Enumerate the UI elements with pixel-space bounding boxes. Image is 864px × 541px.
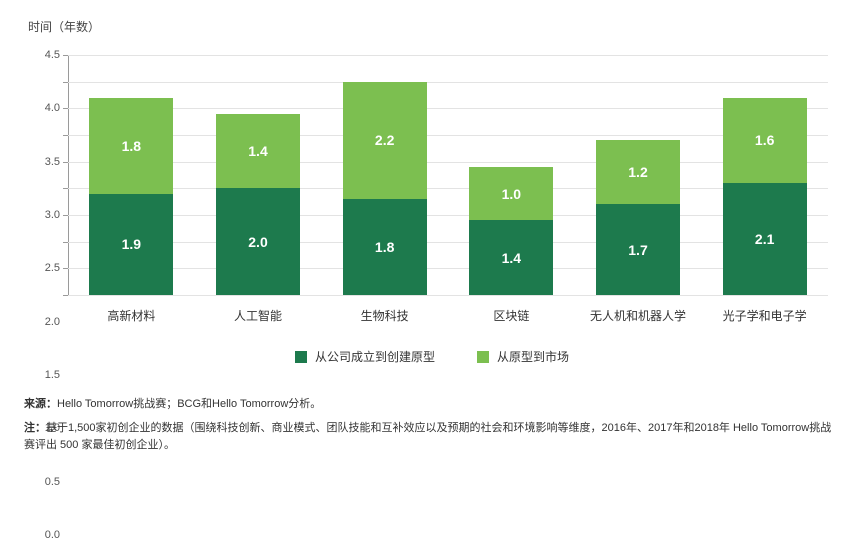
y-tick-label: 2.0 <box>45 316 60 328</box>
source-text: Hello Tomorrow挑战赛；BCG和Hello Tomorrow分析。 <box>57 398 321 410</box>
gridline: 1.0 <box>68 242 828 243</box>
bar-stack: 2.11.6 <box>723 98 807 295</box>
footnotes: 来源：Hello Tomorrow挑战赛；BCG和Hello Tomorrow分… <box>24 396 840 461</box>
x-category-label: 无人机和机器人学 <box>575 307 702 324</box>
gridline: 3.0 <box>68 135 828 136</box>
y-tick-mark <box>63 188 68 189</box>
chart-legend: 从公司成立到创建原型 从原型到市场 <box>0 348 864 365</box>
x-category-label: 区块链 <box>448 307 575 324</box>
plot-area: 0.00.51.01.52.02.53.03.54.04.51.91.8高新材料… <box>68 55 828 295</box>
bar-segment-prototype: 1.4 <box>469 220 553 295</box>
source-row: 来源：Hello Tomorrow挑战赛；BCG和Hello Tomorrow分… <box>24 396 840 414</box>
bar-value-label: 1.0 <box>502 186 521 202</box>
gridline: 4.5 <box>68 55 828 56</box>
y-tick-label: 2.5 <box>45 262 60 274</box>
bar-stack: 1.82.2 <box>343 82 427 295</box>
y-tick-mark <box>63 242 68 243</box>
y-tick-mark <box>63 295 68 296</box>
bar-stack: 1.91.8 <box>89 98 173 295</box>
bar-value-label: 2.1 <box>755 231 774 247</box>
gridline: 3.5 <box>68 108 828 109</box>
y-tick-label: 0.5 <box>45 476 60 488</box>
gridline: 0.0 <box>68 295 828 296</box>
y-tick-mark <box>63 82 68 83</box>
bar-segment-market: 2.2 <box>343 82 427 199</box>
y-tick-mark <box>63 268 68 269</box>
bar-segment-prototype: 2.1 <box>723 183 807 295</box>
bar-value-label: 1.4 <box>248 143 267 159</box>
x-category-label: 人工智能 <box>195 307 322 324</box>
legend-label-1: 从原型到市场 <box>497 348 569 365</box>
bar-value-label: 1.9 <box>122 236 141 252</box>
note-text: 基于1,500家初创企业的数据（围绕科技创新、商业模式、团队技能和互补效应以及预… <box>24 422 831 452</box>
legend-swatch-light-green <box>477 351 489 363</box>
gridline: 1.5 <box>68 215 828 216</box>
gridline: 0.5 <box>68 268 828 269</box>
bar-segment-prototype: 1.9 <box>89 194 173 295</box>
bar-stack: 2.01.4 <box>216 114 300 295</box>
y-tick-mark <box>63 108 68 109</box>
legend-swatch-dark-green <box>295 351 307 363</box>
y-tick-mark <box>63 55 68 56</box>
chart-page: 时间（年数） 0.00.51.01.52.02.53.03.54.04.51.9… <box>0 0 864 462</box>
y-tick-label: 4.5 <box>45 49 60 61</box>
y-tick-mark <box>63 135 68 136</box>
bar-segment-prototype: 2.0 <box>216 188 300 295</box>
x-category-label: 高新材料 <box>68 307 195 324</box>
bar-value-label: 1.6 <box>755 132 774 148</box>
legend-label-0: 从公司成立到创建原型 <box>315 348 435 365</box>
y-axis-line <box>68 55 69 295</box>
legend-item-market: 从原型到市场 <box>477 348 569 365</box>
bar-value-label: 1.8 <box>375 239 394 255</box>
x-category-label: 生物科技 <box>321 307 448 324</box>
y-axis-title: 时间（年数） <box>28 18 100 35</box>
bar-segment-market: 1.4 <box>216 114 300 189</box>
bar-value-label: 1.2 <box>628 164 647 180</box>
y-tick-mark <box>63 215 68 216</box>
gridline: 2.5 <box>68 162 828 163</box>
bar-segment-market: 1.6 <box>723 98 807 183</box>
y-tick-label: 3.5 <box>45 156 60 168</box>
legend-item-prototype: 从公司成立到创建原型 <box>295 348 435 365</box>
y-tick-mark <box>63 162 68 163</box>
bar-segment-market: 1.0 <box>469 167 553 220</box>
bar-segment-market: 1.2 <box>596 140 680 204</box>
y-tick-label: 1.5 <box>45 369 60 381</box>
bar-segment-prototype: 1.8 <box>343 199 427 295</box>
gridline: 4.0 <box>68 82 828 83</box>
source-label: 来源： <box>24 398 57 410</box>
bar-stack: 1.71.2 <box>596 140 680 295</box>
y-tick-label: 3.0 <box>45 209 60 221</box>
gridline: 2.0 <box>68 188 828 189</box>
note-label: 注： <box>24 422 46 434</box>
bar-value-label: 1.8 <box>122 138 141 154</box>
x-category-label: 光子学和电子学 <box>701 307 828 324</box>
note-row: 注：基于1,500家初创企业的数据（围绕科技创新、商业模式、团队技能和互补效应以… <box>24 420 840 455</box>
bar-value-label: 1.4 <box>502 250 521 266</box>
bar-segment-market: 1.8 <box>89 98 173 194</box>
bar-stack: 1.41.0 <box>469 167 553 295</box>
bar-segment-prototype: 1.7 <box>596 204 680 295</box>
bar-value-label: 1.7 <box>628 242 647 258</box>
y-tick-label: 0.0 <box>45 529 60 541</box>
bar-value-label: 2.0 <box>248 234 267 250</box>
bar-value-label: 2.2 <box>375 132 394 148</box>
y-tick-label: 4.0 <box>45 102 60 114</box>
